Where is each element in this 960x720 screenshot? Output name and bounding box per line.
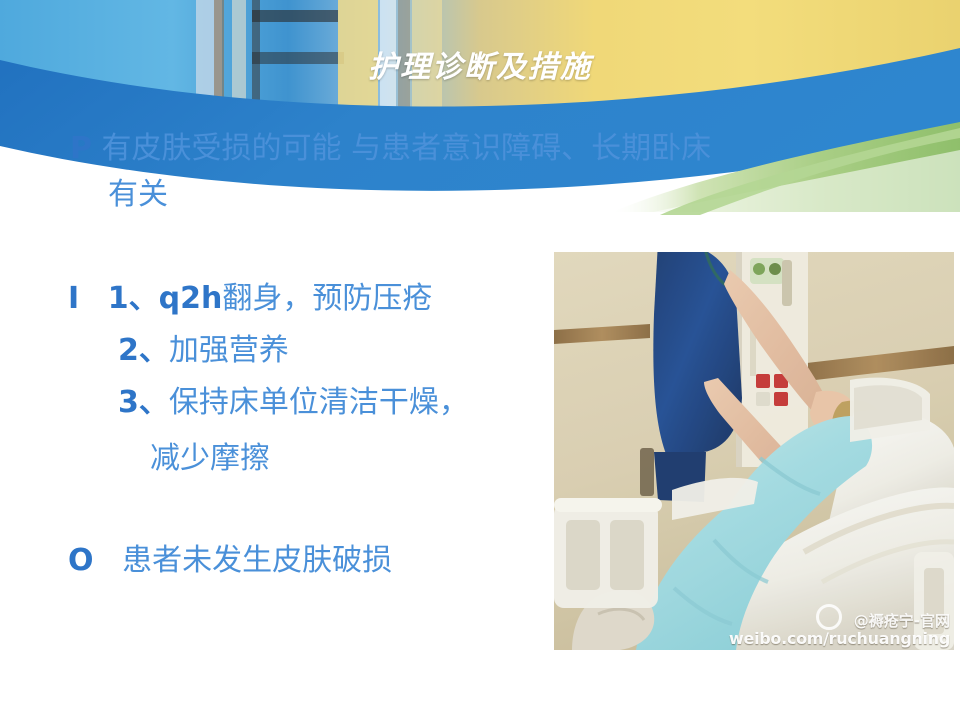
- item-1-code: q2h: [159, 281, 223, 316]
- bullet-p-text-cont: 有关: [108, 177, 168, 212]
- item-2-text: 加强营养: [169, 333, 289, 368]
- clinical-photo: @褥疮宁-官网 weibo.com/ruchuangning: [554, 252, 954, 650]
- bullet-o-line1: O 患者未发生皮肤破损: [0, 538, 580, 584]
- bullet-i-line1: I 1、q2h翻身，预防压疮: [0, 276, 580, 322]
- presentation-slide: 护理诊断及措施 P 有皮肤受损的可能 与患者意识障碍、长期卧床 有关 I 1、q…: [0, 0, 960, 720]
- bullet-p-text: 有皮肤受损的可能 与患者意识障碍、长期卧床: [102, 131, 712, 166]
- bullet-p-line2: 有关: [0, 172, 580, 218]
- slide-body: P 有皮肤受损的可能 与患者意识障碍、长期卧床 有关 I 1、q2h翻身，预防压…: [0, 126, 580, 584]
- item-1-text: 翻身，预防压疮: [222, 281, 432, 316]
- bullet-i-line2: 2、加强营养: [0, 328, 580, 374]
- item-number-3: 3、: [118, 385, 169, 420]
- label-p: P: [70, 131, 92, 166]
- bullet-p-line1: P 有皮肤受损的可能 与患者意识障碍、长期卧床: [0, 126, 580, 172]
- bullet-i-line3: 3、保持床单位清洁干燥，: [0, 380, 580, 426]
- bullet-i-line3-cont: 减少摩擦: [0, 436, 580, 482]
- item-3-text: 保持床单位清洁干燥，: [169, 385, 469, 420]
- label-o: O: [68, 543, 94, 578]
- item-number-2: 2、: [118, 333, 169, 368]
- item-number-1: 1、: [108, 281, 159, 316]
- bullet-o-text: 患者未发生皮肤破损: [122, 543, 392, 578]
- page-title: 护理诊断及措施: [0, 42, 960, 86]
- label-i: I: [68, 281, 79, 316]
- item-3-text-cont: 减少摩擦: [150, 441, 270, 476]
- weibo-logo-icon: [816, 604, 842, 630]
